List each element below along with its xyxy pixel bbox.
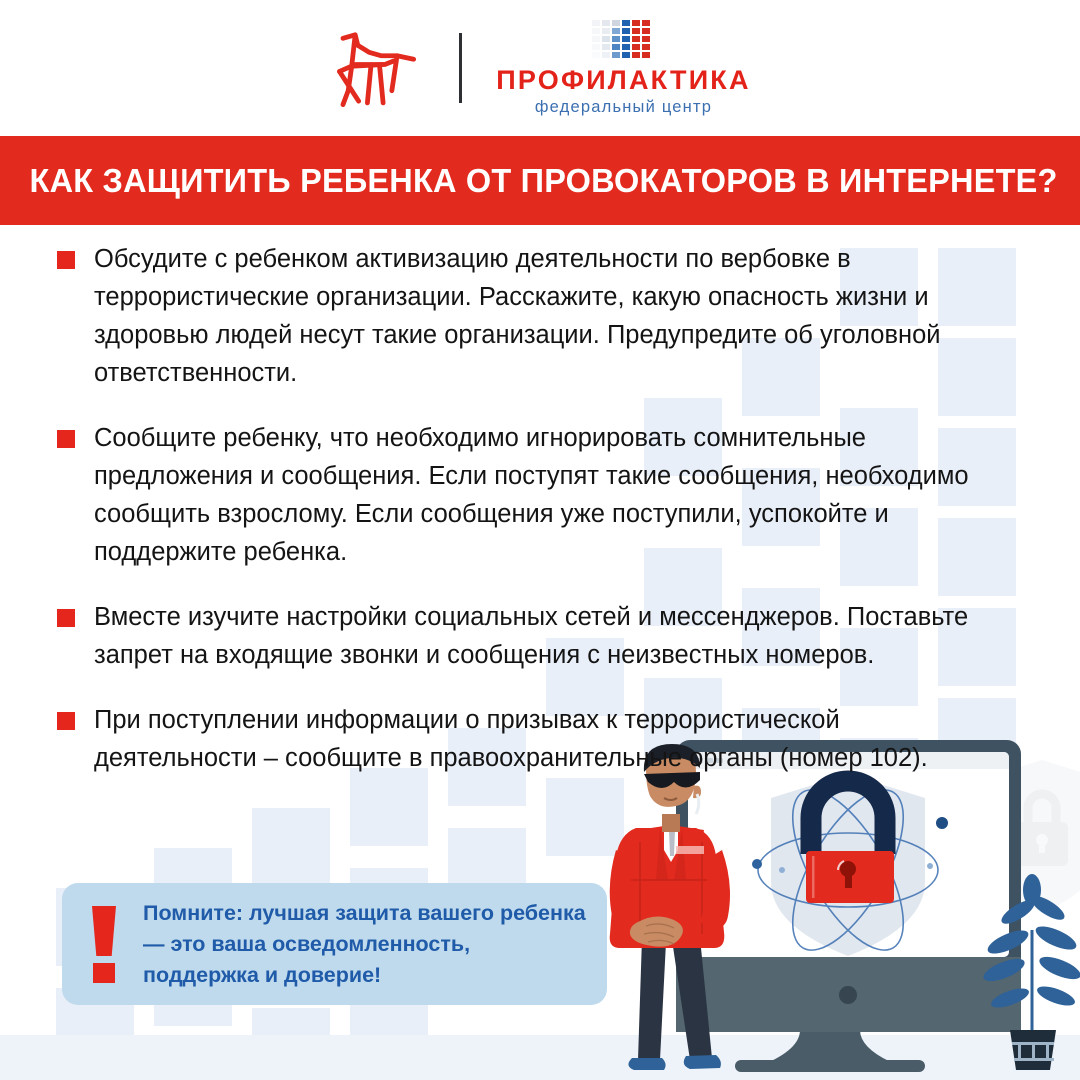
orbit-dot bbox=[927, 863, 933, 869]
bullet-square-icon bbox=[57, 712, 75, 730]
logo-divider bbox=[459, 33, 462, 103]
list-item: При поступлении информации о призывах к … bbox=[0, 701, 1080, 777]
infographic-page: ПРОФИЛАКТИКА федеральный центр КАК ЗАЩИТ… bbox=[0, 0, 1080, 1080]
horse-line-art-logo bbox=[329, 26, 425, 110]
guard-leg-left bbox=[638, 938, 666, 1060]
guard-shoe-left bbox=[628, 1058, 665, 1070]
guard-badge bbox=[676, 846, 704, 854]
tip-text: Вместе изучите настройки социальных сете… bbox=[94, 598, 999, 674]
exclamation-mark-icon bbox=[87, 906, 121, 982]
callout-box: Помните: лучшая защита вашего ребенка — … bbox=[62, 883, 607, 1005]
guard-shoe-right bbox=[684, 1055, 721, 1069]
list-item: Вместе изучите настройки социальных сете… bbox=[0, 598, 1080, 674]
callout-text: Помните: лучшая защита вашего ребенка — … bbox=[143, 898, 607, 991]
header: ПРОФИЛАКТИКА федеральный центр bbox=[0, 0, 1080, 136]
flag-grid-logo-mark bbox=[592, 20, 654, 62]
tip-text: Обсудите с ребенком активизацию деятельн… bbox=[94, 240, 999, 392]
bullet-square-icon bbox=[57, 609, 75, 627]
tip-text: При поступлении информации о призывах к … bbox=[94, 701, 999, 777]
brand-block: ПРОФИЛАКТИКА федеральный центр bbox=[496, 20, 750, 117]
tip-text: Сообщите ребенку, что необходимо игнорир… bbox=[94, 419, 999, 571]
orbit-dot bbox=[779, 867, 785, 873]
page-title: КАК ЗАЩИТИТЬ РЕБЕНКА ОТ ПРОВОКАТОРОВ В И… bbox=[0, 162, 1058, 200]
orbit-dot bbox=[752, 859, 762, 869]
bullet-square-icon bbox=[57, 430, 75, 448]
brand-subtitle: федеральный центр bbox=[535, 98, 712, 117]
tips-list: Обсудите с ребенком активизацию деятельн… bbox=[0, 240, 1080, 804]
monitor-power-button bbox=[839, 986, 857, 1004]
title-banner: КАК ЗАЩИТИТЬ РЕБЕНКА ОТ ПРОВОКАТОРОВ В И… bbox=[0, 136, 1080, 225]
list-item: Обсудите с ребенком активизацию деятельн… bbox=[0, 240, 1080, 392]
bullet-square-icon bbox=[57, 251, 75, 269]
list-item: Сообщите ребенку, что необходимо игнорир… bbox=[0, 419, 1080, 571]
brand-name: ПРОФИЛАКТИКА bbox=[496, 67, 750, 94]
orbit-dot bbox=[936, 817, 948, 829]
